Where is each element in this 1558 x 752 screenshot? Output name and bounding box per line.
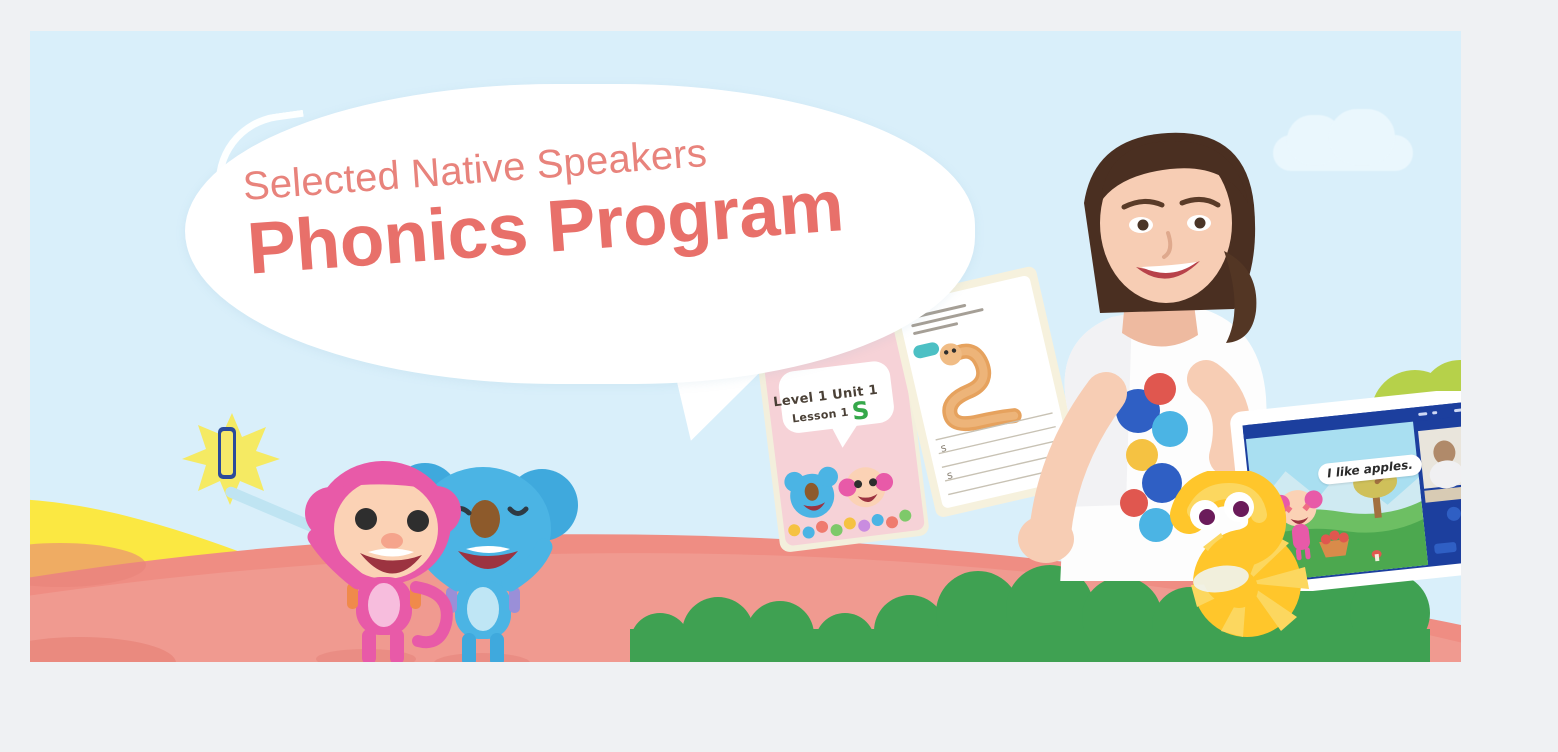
s-mascot-character bbox=[1155, 471, 1315, 651]
headline-speech-bubble: Selected Native Speakers Phonics Program bbox=[185, 84, 975, 394]
phonics-program-banner[interactable]: s s Level 1 Unit 1 Lesson 1 S bbox=[30, 31, 1461, 662]
book-letter-label: S bbox=[850, 396, 871, 426]
mascot-characters-group bbox=[170, 401, 640, 662]
page-root: s s Level 1 Unit 1 Lesson 1 S bbox=[0, 0, 1558, 752]
